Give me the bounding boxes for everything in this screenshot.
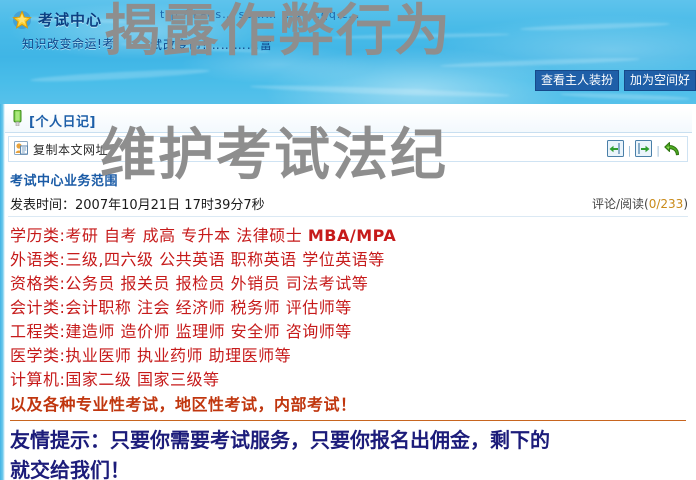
panel-left-edge xyxy=(0,104,5,480)
category-items: 执业医师 执业药师 助理医师等 xyxy=(65,346,291,365)
category-label: 资格类: xyxy=(10,274,65,293)
diary-section-header: [个人日记] xyxy=(5,108,692,133)
content-divider xyxy=(10,420,686,421)
category-line: 会计类:会计职称 注会 经济师 税务师 评估师等 xyxy=(10,296,686,320)
publish-time: 发表时间：2007年10月21日 17时39分7秒 xyxy=(10,194,265,213)
meta-divider xyxy=(8,216,688,217)
comment-read-count: 评论/阅读(0/233) xyxy=(592,195,688,212)
category-label: 学历类: xyxy=(10,226,65,245)
site-slogan-secondary-text: 试改变命!…………富 xyxy=(150,36,273,53)
qzone-diary-page: 考试中心 ttp://kaos… s6…… …ace.qq.c… 知识改变命运!… xyxy=(0,0,696,480)
view-owner-decoration-button[interactable]: 查看主人装扮 xyxy=(535,70,619,91)
category-line: 学历类:考研 自考 成高 专升本 法律硕士 MBA/MPA xyxy=(10,224,686,248)
category-items: 考研 自考 成高 专升本 法律硕士 xyxy=(65,226,307,245)
category-label: 会计类: xyxy=(10,298,65,317)
content-panel: [个人日记] 复制本文网址 xyxy=(0,104,696,480)
category-items: 建造师 造价师 监理师 安全师 咨询师等 xyxy=(65,322,351,341)
nav-separator: | xyxy=(656,144,660,157)
previous-article-icon[interactable] xyxy=(607,140,624,161)
water-ripple xyxy=(560,92,690,102)
return-arrow-icon[interactable] xyxy=(664,141,681,161)
category-line: 医学类:执业医师 执业药师 助理医师等 xyxy=(10,344,686,368)
add-space-friend-button[interactable]: 加为空间好 xyxy=(624,70,696,91)
star-icon xyxy=(12,10,32,30)
category-line: 资格类:公务员 报关员 报检员 外销员 司法考试等 xyxy=(10,272,686,296)
read-suffix: ) xyxy=(683,197,688,211)
water-ripple xyxy=(250,83,510,98)
site-url-text: ttp://kaos… s6…… …ace.qq.c… xyxy=(160,8,360,21)
friendly-tip-line1: 友情提示：只要你需要考试服务，只要你报名出佣金，剩下的 xyxy=(10,425,686,455)
article-nav-icons: | | xyxy=(607,140,681,161)
diary-section-title: [个人日记] xyxy=(29,111,96,130)
copy-link-icon[interactable] xyxy=(14,140,28,159)
category-items: 国家二级 国家三级等 xyxy=(65,370,219,389)
category-line: 计算机:国家二级 国家三级等 xyxy=(10,368,686,392)
copy-article-url-link[interactable]: 复制本文网址 xyxy=(33,141,108,158)
article-title: 考试中心业务范围 xyxy=(10,170,118,189)
category-line: 外语类:三级,四六级 公共英语 职称英语 学位英语等 xyxy=(10,248,686,272)
category-bold-tail: MBA/MPA xyxy=(308,226,396,245)
book-icon xyxy=(12,110,23,130)
article-emphasis-line: 以及各种专业性考试，地区性考试，内部考试！ xyxy=(10,392,686,418)
water-ripple xyxy=(520,21,670,31)
site-name-text: 考试中心 xyxy=(38,9,102,30)
article-meta-row: 发表时间：2007年10月21日 17时39分7秒 评论/阅读(0/233) xyxy=(10,194,688,216)
category-label: 计算机: xyxy=(10,370,65,389)
article-body: 学历类:考研 自考 成高 专升本 法律硕士 MBA/MPA 外语类:三级,四六级… xyxy=(10,224,686,480)
category-items: 会计职称 注会 经济师 税务师 评估师等 xyxy=(65,298,351,317)
site-banner: 考试中心 ttp://kaos… s6…… …ace.qq.c… 知识改变命运!… xyxy=(0,0,696,104)
category-line: 工程类:建造师 造价师 监理师 安全师 咨询师等 xyxy=(10,320,686,344)
owner-action-buttons: 查看主人装扮 加为空间好 xyxy=(535,70,696,91)
friendly-tip-line2: 就交给我们！ xyxy=(10,455,686,480)
category-label: 工程类: xyxy=(10,322,65,341)
water-ripple xyxy=(440,57,640,69)
next-article-icon[interactable] xyxy=(635,140,652,161)
water-ripple xyxy=(30,67,210,83)
category-items: 公务员 报关员 报检员 外销员 司法考试等 xyxy=(65,274,368,293)
category-label: 外语类: xyxy=(10,250,65,269)
article-toolbar: 复制本文网址 | xyxy=(8,136,688,162)
nav-separator: | xyxy=(628,144,632,157)
category-label: 医学类: xyxy=(10,346,65,365)
site-slogan-text: 知识改变命运!考 xyxy=(22,35,115,52)
category-items: 三级,四六级 公共英语 职称英语 学位英语等 xyxy=(65,250,384,269)
read-value: 0/233 xyxy=(649,197,684,211)
water-ripple xyxy=(330,32,510,39)
site-logo[interactable]: 考试中心 xyxy=(12,9,102,30)
read-label: 评论/阅读( xyxy=(592,197,649,211)
